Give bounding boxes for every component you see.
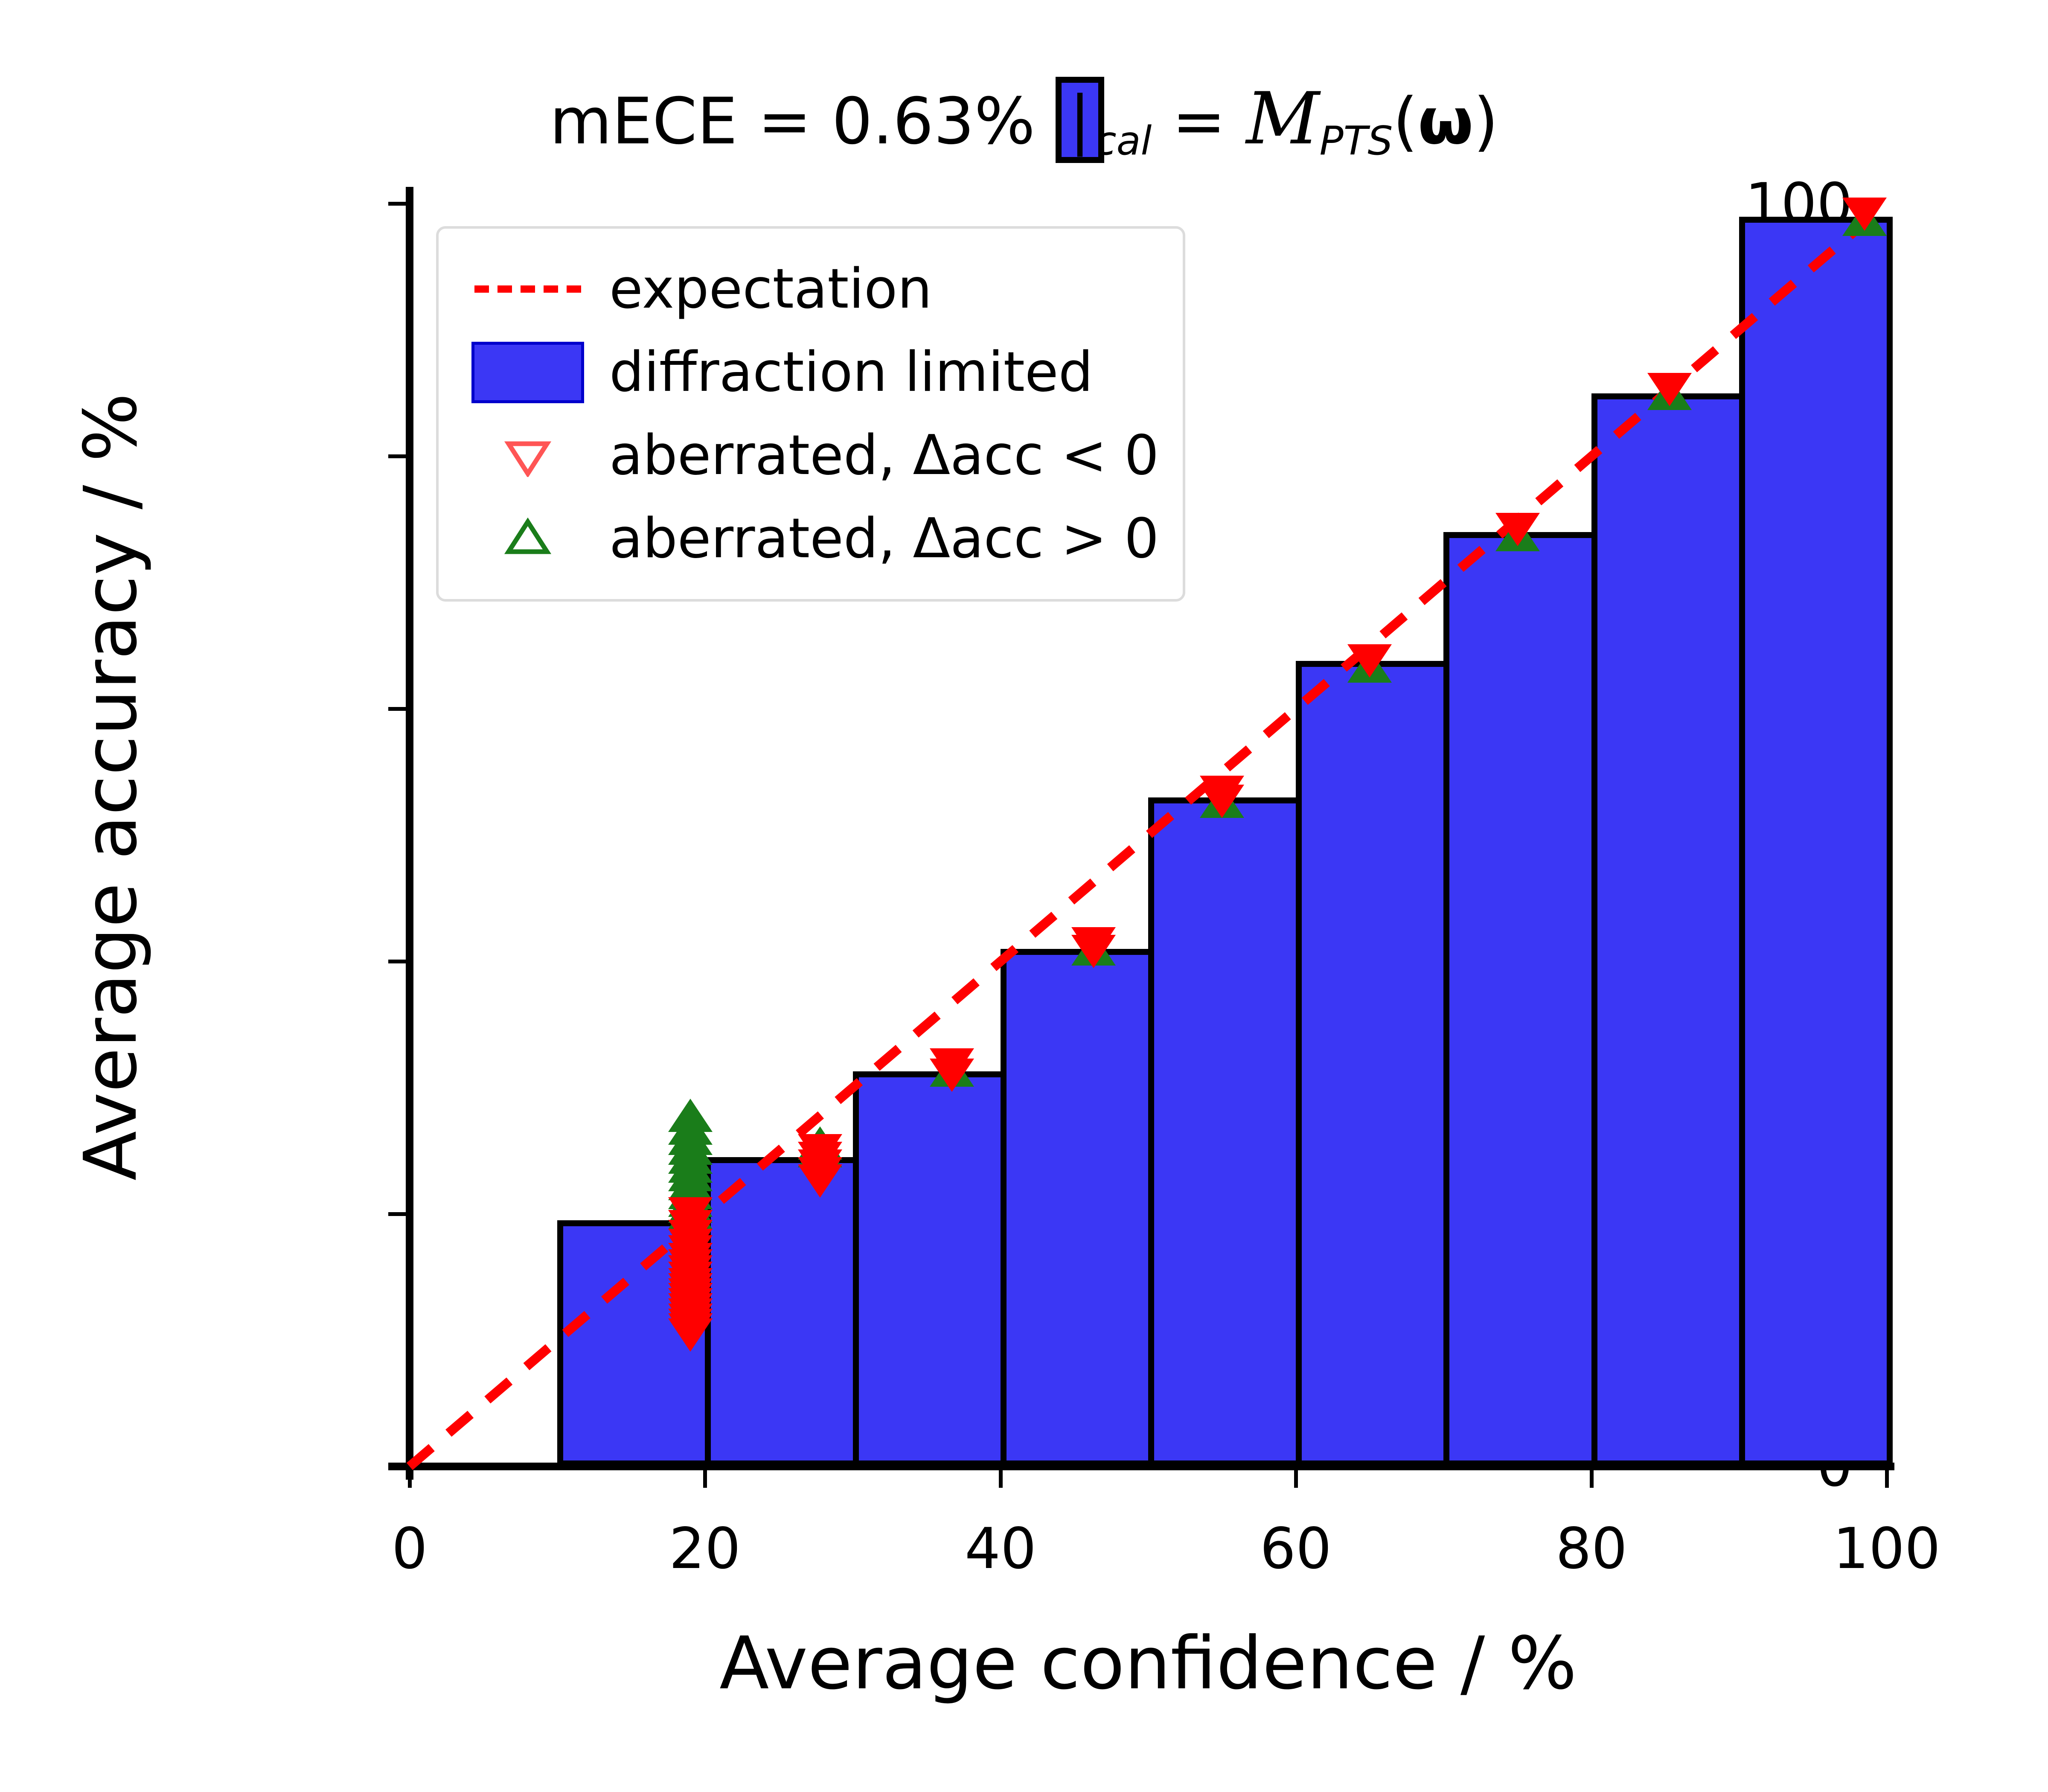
marker-triangle-down-icon — [1495, 513, 1540, 546]
title-separator: | — [1056, 77, 1105, 163]
x-tick-40 — [999, 1466, 1003, 1488]
x-tick-80 — [1590, 1466, 1594, 1488]
title-paren-close: ) — [1473, 84, 1498, 159]
legend-item-aberrated-pos[interactable]: aberrated, Δacc > 0 — [457, 497, 1159, 580]
x-ticklabel-20: 20 — [669, 1516, 741, 1582]
x-ticklabel-60: 60 — [1260, 1516, 1332, 1582]
legend-item-expectation[interactable]: expectation — [457, 247, 1159, 331]
legend-box[interactable]: expectation diffraction limited aberrate… — [436, 226, 1185, 602]
x-tick-100 — [1885, 1466, 1889, 1488]
legend-label-expectation: expectation — [598, 257, 932, 321]
title-cal-subscript: PTS — [1320, 118, 1393, 164]
marker-triangle-down-icon — [1647, 373, 1692, 406]
x-ticklabel-100: 100 — [1833, 1516, 1940, 1582]
marker-triangle-down-icon — [1071, 935, 1116, 968]
y-tick-100 — [388, 202, 407, 206]
legend-label-aberrated-neg: aberrated, Δacc < 0 — [598, 424, 1159, 487]
marker-triangle-down-icon — [930, 1059, 974, 1092]
title-paren-open: ( — [1393, 84, 1418, 159]
title-metric-value: 0.63% — [832, 84, 1036, 159]
legend-key-triangle-up-icon — [457, 518, 598, 560]
title-metric-name: mECE — [550, 84, 737, 159]
marker-triangle-down-icon — [1200, 785, 1244, 818]
title-cal-symbol: M — [1246, 77, 1319, 160]
y-axis-label: Average accuracy / % — [69, 147, 153, 1427]
title-equals-1: = — [758, 84, 812, 159]
marker-triangle-down-icon — [668, 1318, 713, 1352]
x-tick-0 — [408, 1466, 412, 1488]
legend-item-diffraction-limited[interactable]: diffraction limited — [457, 331, 1159, 414]
legend-key-dashed-line — [457, 285, 598, 293]
chart-title: mECE = 0.63% | Tcal = MPTS(ω) — [0, 77, 2048, 164]
y-tick-20 — [388, 1212, 407, 1216]
legend-label-aberrated-pos: aberrated, Δacc > 0 — [598, 507, 1159, 570]
y-tick-60 — [388, 707, 407, 711]
figure-canvas: mECE = 0.63% | Tcal = MPTS(ω) 0 20 40 60… — [0, 0, 2048, 1792]
y-tick-0 — [388, 1465, 407, 1469]
title-equals-2: = — [1172, 84, 1226, 159]
marker-triangle-down-icon — [1347, 644, 1392, 678]
legend-key-triangle-down-icon — [457, 434, 598, 477]
x-tick-60 — [1294, 1466, 1298, 1488]
legend-key-bar-patch — [457, 342, 598, 403]
y-tick-40 — [388, 960, 407, 963]
legend-label-diffraction-limited: diffraction limited — [598, 340, 1093, 404]
x-ticklabel-0: 0 — [392, 1516, 428, 1582]
y-tick-80 — [388, 454, 407, 458]
x-ticklabel-40: 40 — [965, 1516, 1036, 1582]
plot-area: 0 20 40 60 80 100 0 20 40 60 80 100 — [410, 204, 1887, 1466]
x-ticklabel-80: 80 — [1556, 1516, 1627, 1582]
legend-item-aberrated-neg[interactable]: aberrated, Δacc < 0 — [457, 414, 1159, 497]
title-omega: ω — [1418, 84, 1473, 159]
x-axis-label: Average confidence / % — [410, 1621, 1887, 1706]
marker-triangle-down-icon — [798, 1164, 842, 1198]
x-tick-20 — [703, 1466, 707, 1488]
marker-triangle-down-icon — [1842, 198, 1887, 231]
